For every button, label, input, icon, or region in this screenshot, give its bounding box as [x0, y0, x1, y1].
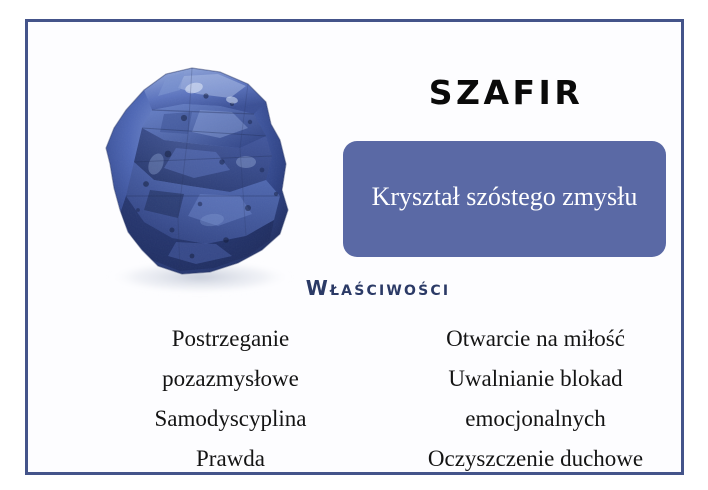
property-item-right: emocjonalnych — [385, 399, 686, 439]
property-item-left: Postrzeganie — [80, 319, 381, 359]
tagline-text: Kryształ szóstego zmysłu — [372, 178, 638, 216]
property-item-left: Prawda — [80, 439, 381, 479]
sapphire-crystal-illustration — [80, 44, 330, 299]
property-item-right: Oczyszczenie duchowe — [385, 439, 686, 479]
property-item-right: Uwalnianie blokad — [385, 359, 686, 399]
page-title: SZAFIR — [346, 74, 666, 112]
property-item-left: Samodyscyplina — [80, 399, 381, 439]
card-frame: SZAFIR Kryształ szóstego zmysłu Właściwo… — [25, 19, 684, 475]
property-item-left: pozazmysłowe — [80, 359, 381, 399]
tagline-box: Kryształ szóstego zmysłu — [343, 141, 666, 257]
properties-heading: Właściwości — [208, 276, 548, 300]
sapphire-crystal-photo — [80, 44, 330, 299]
properties-grid: Postrzeganie Otwarcie na miłość pozazmys… — [80, 319, 686, 479]
gemstone-info-card: SZAFIR Kryształ szóstego zmysłu Właściwo… — [0, 0, 708, 490]
crystal-body — [80, 44, 330, 299]
property-item-right: Otwarcie na miłość — [385, 319, 686, 359]
